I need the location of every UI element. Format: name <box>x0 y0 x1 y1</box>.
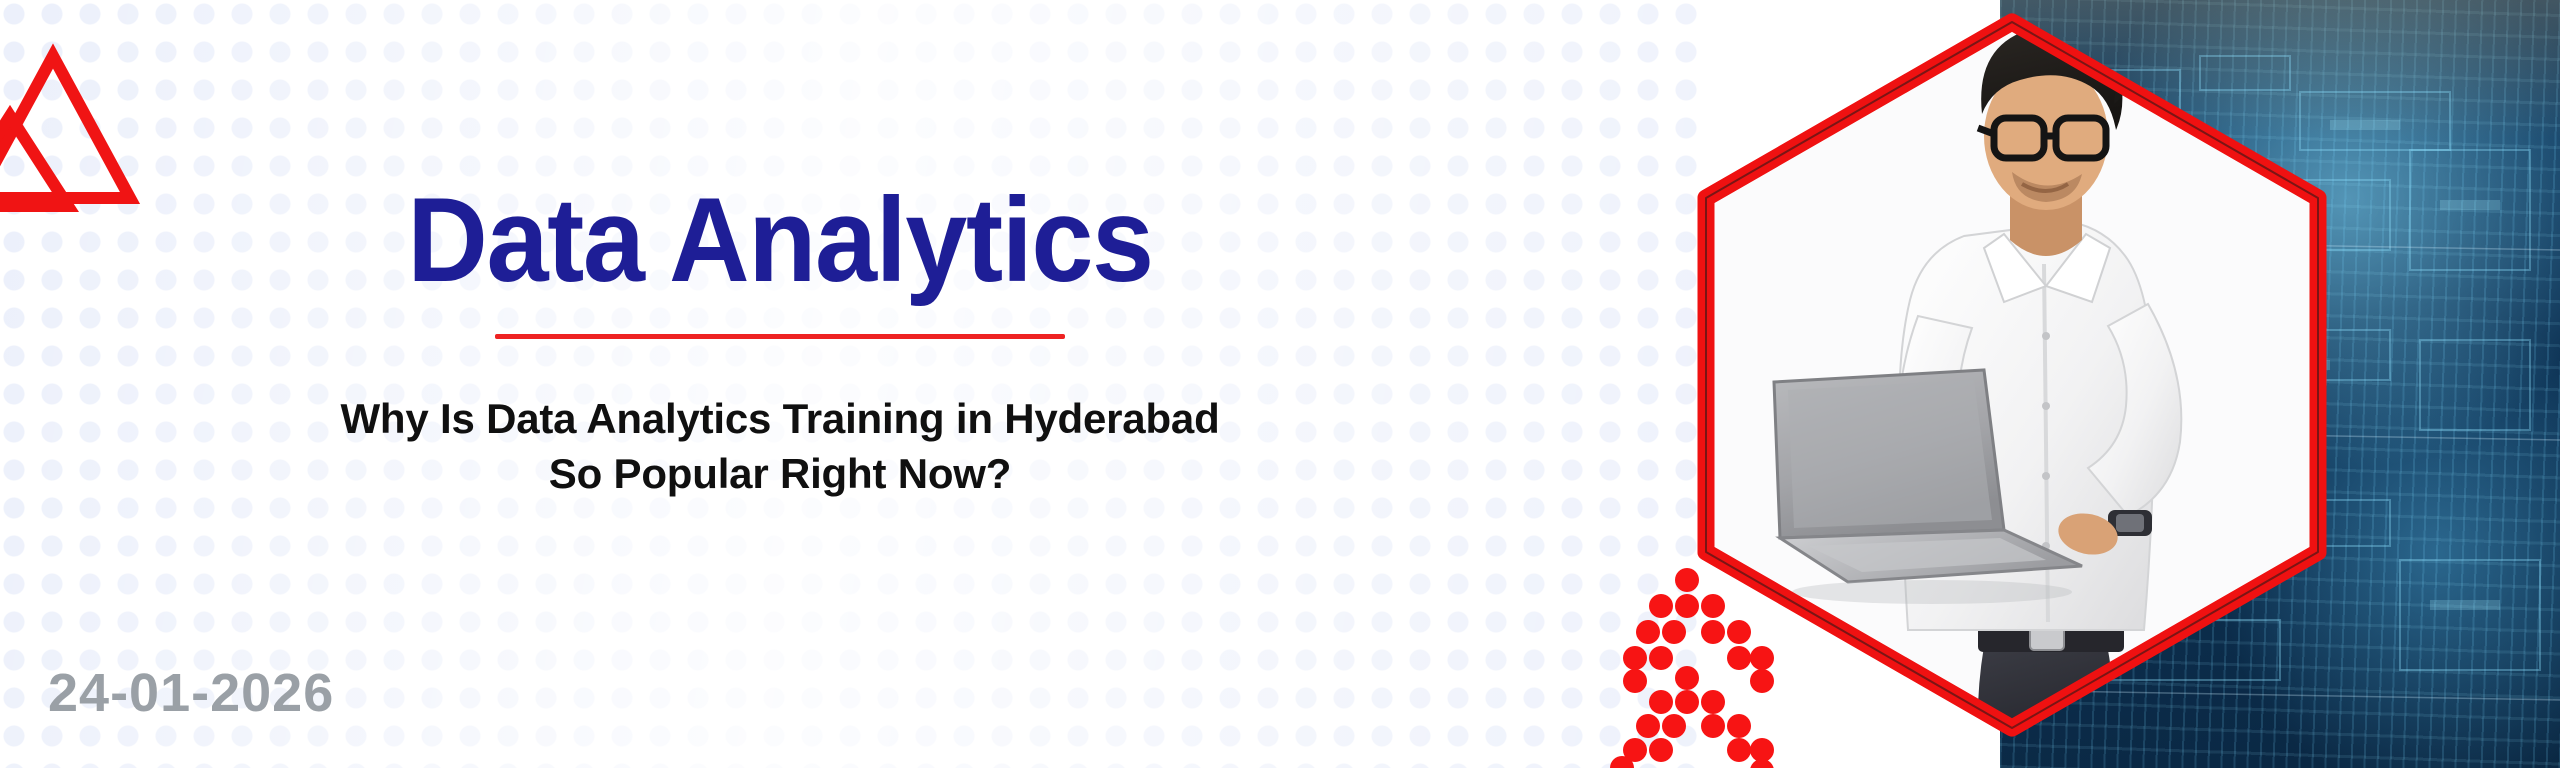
page-subtitle-line-2: So Popular Right Now? <box>80 446 1480 501</box>
page-subtitle-line-1: Why Is Data Analytics Training in Hydera… <box>80 391 1480 446</box>
blog-banner: Data Analytics Why Is Data Analytics Tra… <box>0 0 2560 768</box>
hexagon-photo-frame <box>1612 0 2412 768</box>
page-title: Data Analytics <box>55 180 1506 300</box>
hexagon-frame-icon <box>1612 0 2412 768</box>
publish-date: 24-01-2026 <box>48 662 334 724</box>
page-subtitle: Why Is Data Analytics Training in Hydera… <box>80 391 1480 502</box>
title-divider <box>495 334 1065 339</box>
headline-group: Data Analytics Why Is Data Analytics Tra… <box>0 180 1560 502</box>
